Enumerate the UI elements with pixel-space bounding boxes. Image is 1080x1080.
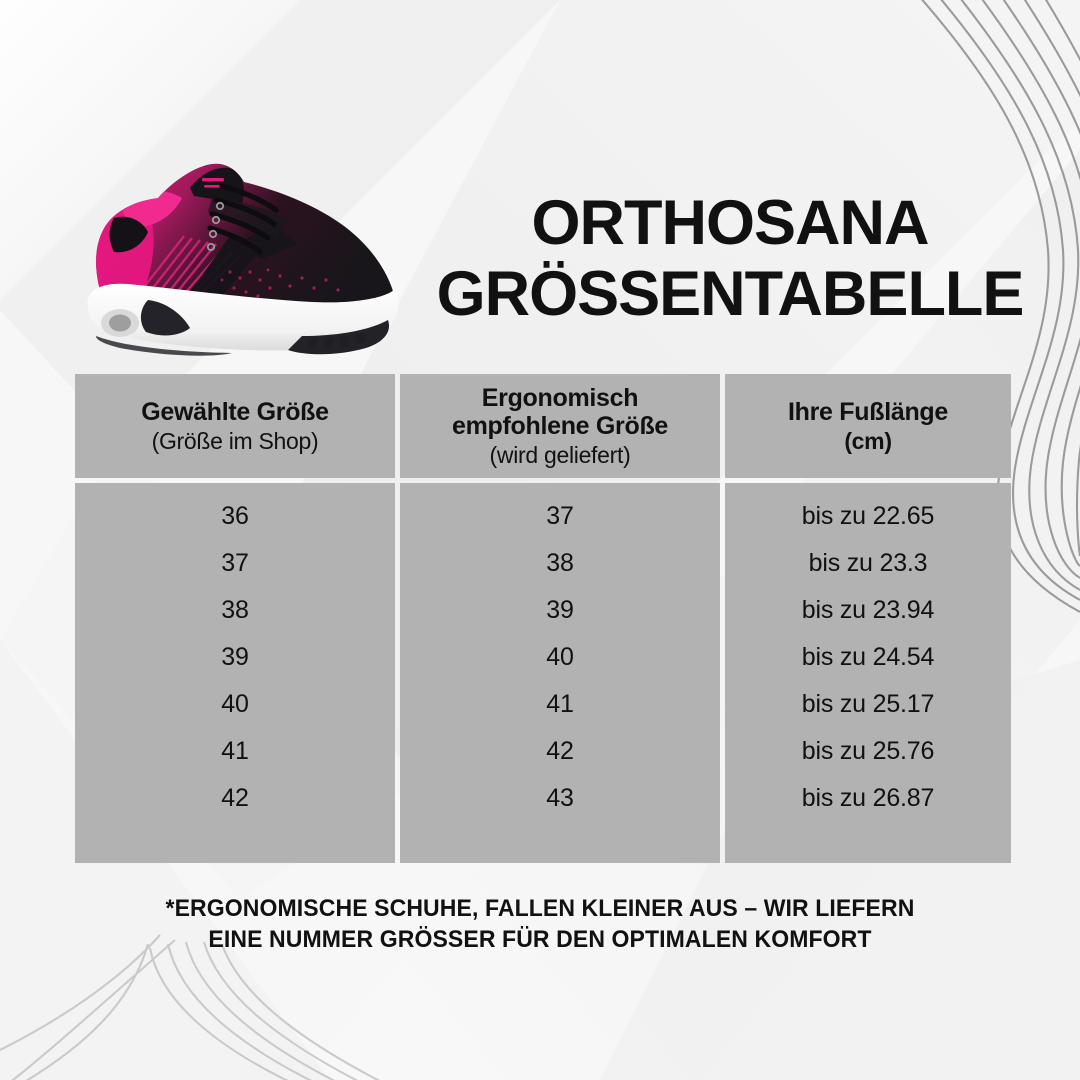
table-cell: 42 bbox=[400, 728, 720, 775]
table-cell: 38 bbox=[75, 587, 395, 634]
title-line-brand: ORTHOSANA bbox=[430, 192, 1030, 255]
table-cell: 41 bbox=[400, 681, 720, 728]
chosen-size-list: 36 37 38 39 40 41 42 bbox=[75, 493, 395, 822]
table-cell: bis zu 23.94 bbox=[725, 587, 1011, 634]
header-main-text-line2: empfohlene Größe bbox=[452, 412, 668, 440]
table-cell: bis zu 22.65 bbox=[725, 493, 1011, 540]
table-cell: 40 bbox=[75, 681, 395, 728]
column-chosen-size: 36 37 38 39 40 41 42 bbox=[75, 483, 395, 863]
header-sub-text: (wird geliefert) bbox=[490, 442, 631, 468]
table-cell: 37 bbox=[75, 540, 395, 587]
table-cell: 37 bbox=[400, 493, 720, 540]
header-main-text: Gewählte Größe bbox=[141, 398, 329, 426]
table-cell: 39 bbox=[75, 634, 395, 681]
recommended-size-list: 37 38 39 40 41 42 43 bbox=[400, 493, 720, 822]
footer-line-2: EINE NUMMER GRÖSSER FÜR DEN OPTIMALEN KO… bbox=[117, 924, 963, 955]
table-cell: 40 bbox=[400, 634, 720, 681]
table-cell: bis zu 23.3 bbox=[725, 540, 1011, 587]
table-body-row: 36 37 38 39 40 41 42 37 38 39 40 41 42 4… bbox=[75, 483, 1011, 863]
header-main-text: Ihre Fußlänge bbox=[788, 398, 948, 426]
column-foot-length: bis zu 22.65 bis zu 23.3 bis zu 23.94 bi… bbox=[725, 483, 1011, 863]
table-header-recommended-size: Ergonomisch empfohlene Größe (wird gelie… bbox=[400, 374, 720, 478]
table-cell: 42 bbox=[75, 775, 395, 822]
table-cell: 36 bbox=[75, 493, 395, 540]
table-cell: bis zu 25.76 bbox=[725, 728, 1011, 775]
table-cell: 39 bbox=[400, 587, 720, 634]
size-chart-table: Gewählte Größe (Größe im Shop) Ergonomis… bbox=[75, 374, 1011, 863]
foot-length-list: bis zu 22.65 bis zu 23.3 bis zu 23.94 bi… bbox=[725, 493, 1011, 822]
title-line-subject: GRÖSSENTABELLE bbox=[430, 263, 1030, 326]
header-sub-text: (cm) bbox=[844, 428, 891, 454]
table-cell: 38 bbox=[400, 540, 720, 587]
table-cell: bis zu 24.54 bbox=[725, 634, 1011, 681]
header-main-text-line1: Ergonomisch bbox=[482, 384, 638, 412]
header-sub-text: (Größe im Shop) bbox=[152, 428, 319, 454]
footer-line-1: *ERGONOMISCHE SCHUHE, FALLEN KLEINER AUS… bbox=[117, 893, 963, 924]
footer-disclaimer: *ERGONOMISCHE SCHUHE, FALLEN KLEINER AUS… bbox=[90, 893, 990, 956]
table-cell: bis zu 25.17 bbox=[725, 681, 1011, 728]
table-cell: 41 bbox=[75, 728, 395, 775]
product-photo-sneaker bbox=[62, 140, 422, 370]
table-header-chosen-size: Gewählte Größe (Größe im Shop) bbox=[75, 374, 395, 478]
table-cell: 43 bbox=[400, 775, 720, 822]
table-header-row: Gewählte Größe (Größe im Shop) Ergonomis… bbox=[75, 374, 1011, 478]
table-header-foot-length: Ihre Fußlänge (cm) bbox=[725, 374, 1011, 478]
table-cell: bis zu 26.87 bbox=[725, 775, 1011, 822]
column-recommended-size: 37 38 39 40 41 42 43 bbox=[400, 483, 720, 863]
page-title: ORTHOSANA GRÖSSENTABELLE bbox=[430, 192, 1030, 326]
